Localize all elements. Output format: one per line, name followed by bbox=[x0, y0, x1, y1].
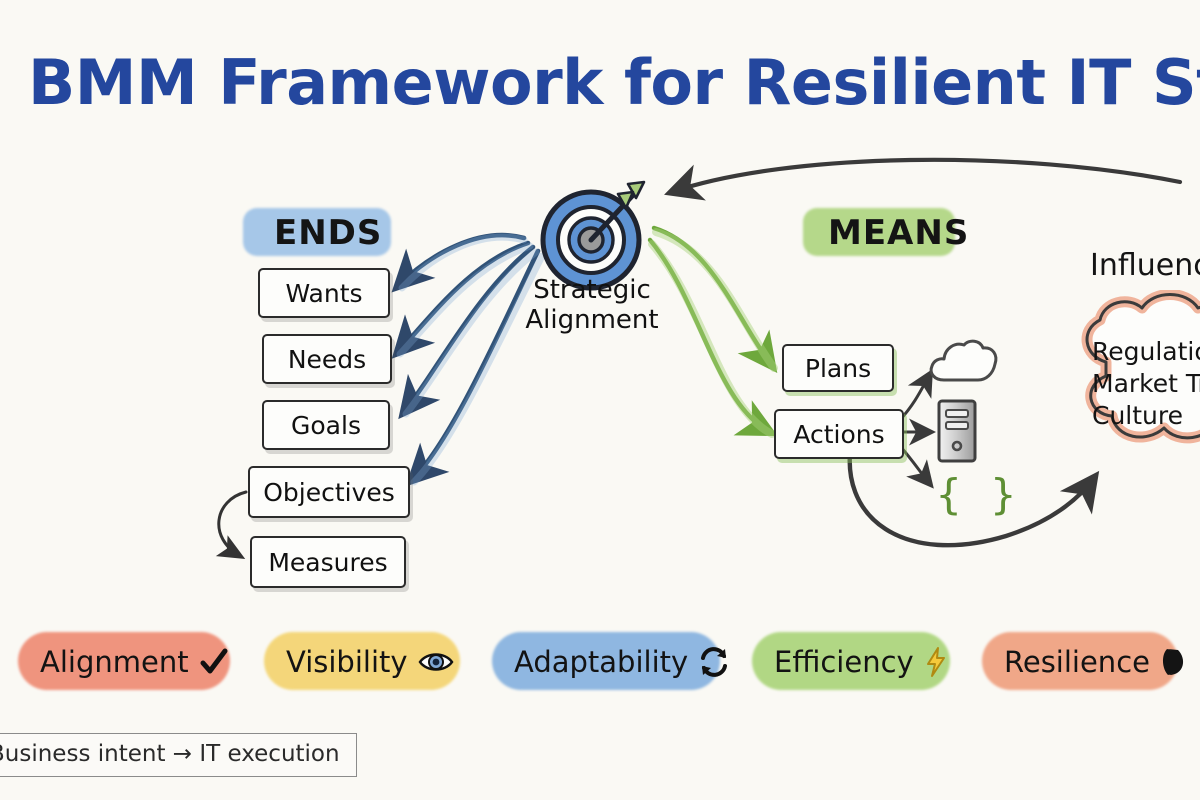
node-actions[interactable]: Actions bbox=[774, 409, 904, 459]
check-icon bbox=[199, 647, 229, 677]
section-label-means: MEANS bbox=[812, 211, 985, 257]
footer-caption: Business intent → IT execution bbox=[0, 733, 357, 777]
node-needs[interactable]: Needs bbox=[262, 334, 392, 384]
influencer-line: Market Trends bbox=[1092, 368, 1200, 400]
center-label: Strategic Alignment bbox=[494, 276, 690, 336]
center-label-line1: Strategic bbox=[494, 276, 690, 306]
node-label: Wants bbox=[285, 279, 362, 308]
section-label-ends: ENDS bbox=[258, 211, 398, 257]
refresh-icon bbox=[698, 647, 730, 677]
node-plans[interactable]: Plans bbox=[782, 344, 894, 392]
node-label: Plans bbox=[805, 354, 871, 383]
badge-visibility[interactable]: Visibility bbox=[264, 632, 460, 692]
badge-alignment[interactable]: Alignment bbox=[18, 632, 230, 692]
whiteboard-canvas: BMM Framework for Resilient IT Strategy … bbox=[0, 0, 1200, 800]
influencers-cloud-text: Regulations Market Trends Culture bbox=[1092, 336, 1200, 432]
badge-efficiency[interactable]: Efficiency bbox=[752, 632, 950, 692]
node-measures[interactable]: Measures bbox=[250, 536, 406, 588]
node-label: Measures bbox=[268, 548, 387, 577]
moon-icon bbox=[1160, 647, 1188, 677]
node-wants[interactable]: Wants bbox=[258, 268, 390, 318]
outcome-badges: Alignment Visibility Adaptability bbox=[0, 618, 1200, 714]
influencers-label: Influencers bbox=[1090, 248, 1200, 283]
node-label: Needs bbox=[288, 345, 366, 374]
node-label: Actions bbox=[793, 420, 884, 449]
influencer-line: Regulations bbox=[1092, 336, 1200, 368]
lightning-icon bbox=[924, 646, 948, 678]
influencer-line: Culture bbox=[1092, 400, 1200, 432]
badge-label: Alignment bbox=[18, 645, 189, 679]
code-braces-icon: { } bbox=[936, 470, 1018, 519]
node-label: Goals bbox=[291, 411, 361, 440]
badge-adaptability[interactable]: Adaptability bbox=[492, 632, 720, 692]
server-icon bbox=[936, 398, 978, 468]
badge-label: Visibility bbox=[264, 645, 408, 679]
badge-label: Resilience bbox=[982, 645, 1150, 679]
node-goals[interactable]: Goals bbox=[262, 400, 390, 450]
node-objectives[interactable]: Objectives bbox=[248, 466, 410, 518]
badge-resilience[interactable]: Resilience bbox=[982, 632, 1178, 692]
center-label-line2: Alignment bbox=[494, 306, 690, 336]
badge-label: Efficiency bbox=[752, 645, 914, 679]
node-label: Objectives bbox=[263, 478, 395, 507]
cloud-icon bbox=[926, 336, 1000, 390]
page-title: BMM Framework for Resilient IT Strategy bbox=[28, 46, 1200, 119]
eye-icon bbox=[418, 649, 454, 675]
badge-label: Adaptability bbox=[492, 645, 688, 679]
